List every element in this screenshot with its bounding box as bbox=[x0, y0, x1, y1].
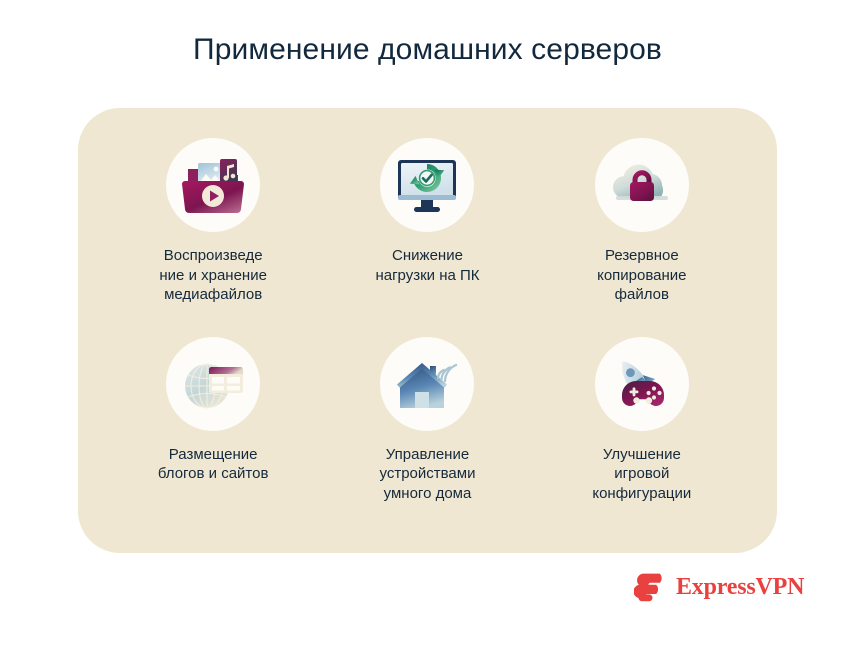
rocket-gamepad-icon bbox=[609, 355, 675, 413]
benefit-item-gaming: Улучшение игровой конфигурации bbox=[535, 337, 749, 536]
monitor-sync-icon bbox=[395, 156, 459, 214]
benefit-label: Улучшение игровой конфигурации bbox=[592, 445, 691, 504]
benefit-label: Снижение нагрузки на ПК bbox=[375, 246, 479, 285]
smart-home-icon bbox=[396, 356, 458, 412]
benefits-grid: Воспроизведе ние и хранение медиафайлов bbox=[78, 108, 777, 553]
media-folder-icon bbox=[182, 156, 244, 214]
benefit-label: Воспроизведе ние и хранение медиафайлов bbox=[159, 246, 267, 305]
cloud-lock-icon bbox=[608, 162, 676, 208]
benefit-item-hosting: Размещение блогов и сайтов bbox=[106, 337, 320, 536]
icon-circle bbox=[166, 138, 260, 232]
benefit-item-media: Воспроизведе ние и хранение медиафайлов bbox=[106, 138, 320, 337]
icon-circle bbox=[595, 337, 689, 431]
icon-circle bbox=[380, 337, 474, 431]
icon-circle bbox=[595, 138, 689, 232]
expressvpn-mark-icon bbox=[634, 572, 667, 603]
benefit-label: Управление устройствами умного дома bbox=[380, 445, 476, 504]
benefit-item-backup: Резервное копирование файлов bbox=[535, 138, 749, 337]
infographic-page: Применение домашних серверов bbox=[0, 0, 855, 645]
benefit-label: Размещение блогов и сайтов bbox=[158, 445, 269, 484]
page-title: Применение домашних серверов bbox=[0, 33, 855, 67]
benefit-item-performance: Снижение нагрузки на ПК bbox=[320, 138, 534, 337]
icon-circle bbox=[380, 138, 474, 232]
expressvpn-logo: ExpressVPN bbox=[634, 572, 804, 603]
expressvpn-wordmark: ExpressVPN bbox=[676, 574, 804, 601]
benefit-label: Резервное копирование файлов bbox=[597, 246, 686, 305]
content-card: Воспроизведе ние и хранение медиафайлов bbox=[78, 108, 777, 553]
icon-circle bbox=[166, 337, 260, 431]
globe-browser-icon bbox=[181, 355, 245, 413]
benefit-item-smart-home: Управление устройствами умного дома bbox=[320, 337, 534, 536]
